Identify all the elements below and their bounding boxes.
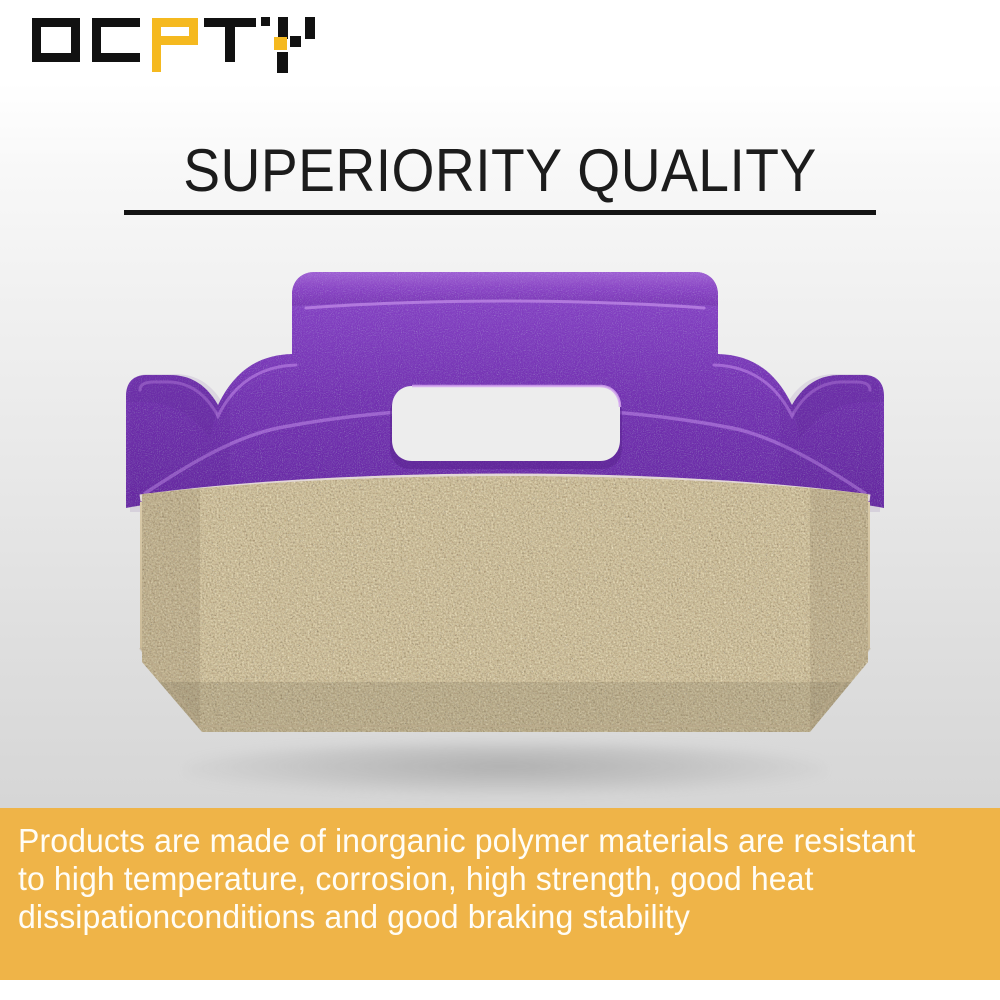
product-photo-brake-pad [110,262,900,762]
friction-bottom-shading [110,682,900,762]
title-underline-rule [124,210,876,215]
product-image-canvas: SUPERIORITY QUALITY [0,0,1000,1000]
footer-white-strip [0,980,1000,1000]
brand-logo-ocpty [32,14,292,66]
feature-caption-banner: Products are made of inorganic polymer m… [0,808,1000,980]
friction-material-group [110,462,900,762]
central-mounting-slot [392,386,620,461]
header-bar [0,0,1000,82]
page-title: SUPERIORITY QUALITY [40,138,960,204]
feature-caption-text: Products are made of inorganic polymer m… [18,822,949,936]
friction-edge-shading-left [110,462,200,762]
friction-edge-shading-right [810,462,900,762]
headline-block: SUPERIORITY QUALITY [0,138,1000,215]
